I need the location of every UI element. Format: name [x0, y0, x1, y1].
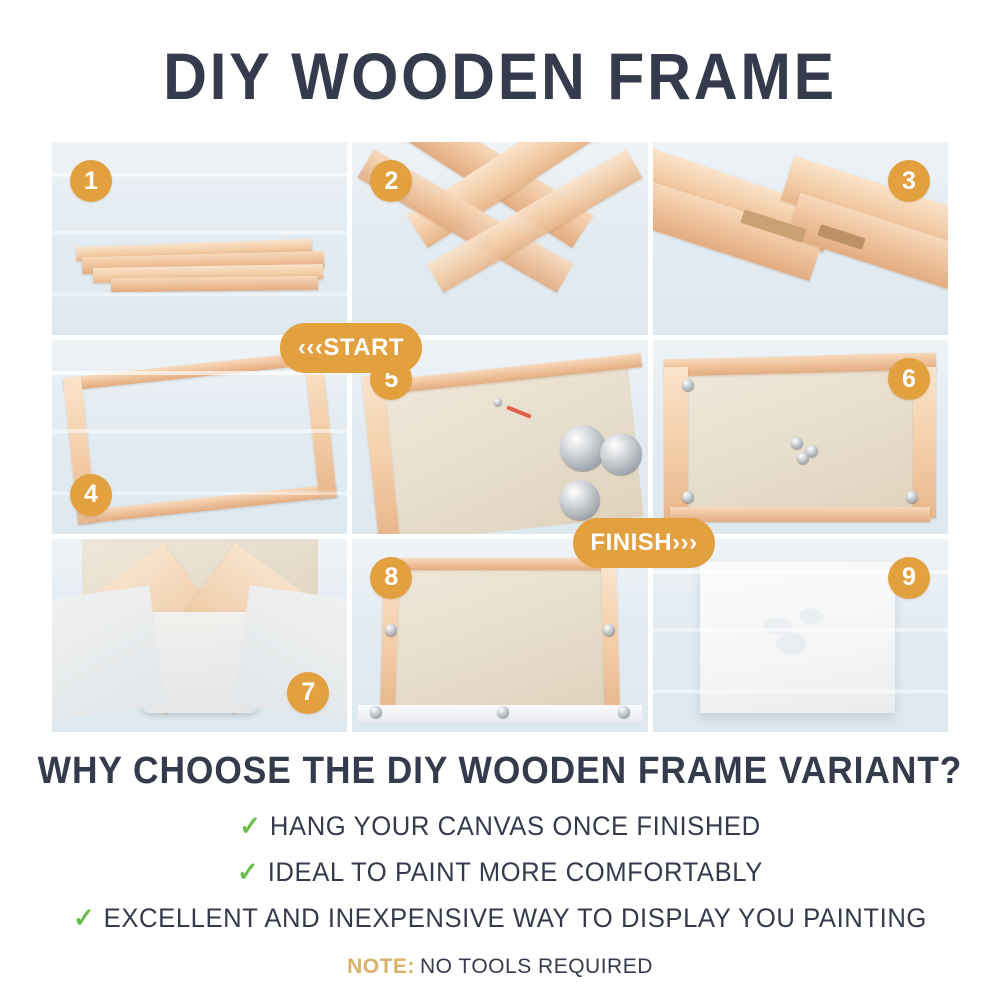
footer-subtitle: WHY CHOOSE THE DIY WOODEN FRAME VARIANT?	[35, 750, 965, 793]
benefit-label: HANG YOUR CANVAS ONCE FINISHED	[270, 811, 761, 841]
note-line: NOTE:NO TOOLS REQUIRED	[0, 955, 1000, 979]
step-badge: 9	[888, 557, 930, 599]
steps-grid: 1 2 3 4	[52, 142, 948, 732]
page-title: DIY WOODEN FRAME	[40, 38, 960, 114]
finish-flow-badge: FINISH›››	[573, 518, 715, 568]
step-badge: 8	[370, 557, 412, 599]
check-icon: ✓	[237, 857, 259, 887]
benefit-item: ✓HANG YOUR CANVAS ONCE FINISHED	[25, 811, 975, 842]
step-badge: 4	[70, 474, 112, 516]
benefit-label: IDEAL TO PAINT MORE COMFORTABLY	[268, 857, 763, 887]
check-icon: ✓	[73, 903, 95, 933]
step-badge: 7	[287, 672, 329, 714]
benefit-label: EXCELLENT AND INEXPENSIVE WAY TO DISPLAY…	[104, 903, 927, 933]
step-cell-7[interactable]: 7	[52, 539, 347, 732]
benefit-item: ✓IDEAL TO PAINT MORE COMFORTABLY	[25, 857, 975, 888]
step-cell-9[interactable]: 9	[653, 539, 948, 732]
note-label: NOTE:	[347, 955, 415, 978]
step-badge: 3	[888, 160, 930, 202]
benefit-item: ✓EXCELLENT AND INEXPENSIVE WAY TO DISPLA…	[25, 903, 975, 934]
step-cell-2[interactable]: 2	[352, 142, 647, 335]
step-badge: 1	[70, 160, 112, 202]
start-flow-badge: ‹‹‹START	[280, 323, 422, 373]
step-cell-3[interactable]: 3	[653, 142, 948, 335]
check-icon: ✓	[239, 811, 261, 841]
step-cell-1[interactable]: 1	[52, 142, 347, 335]
note-text: NO TOOLS REQUIRED	[420, 955, 653, 978]
step-cell-6[interactable]: 6	[653, 340, 948, 533]
